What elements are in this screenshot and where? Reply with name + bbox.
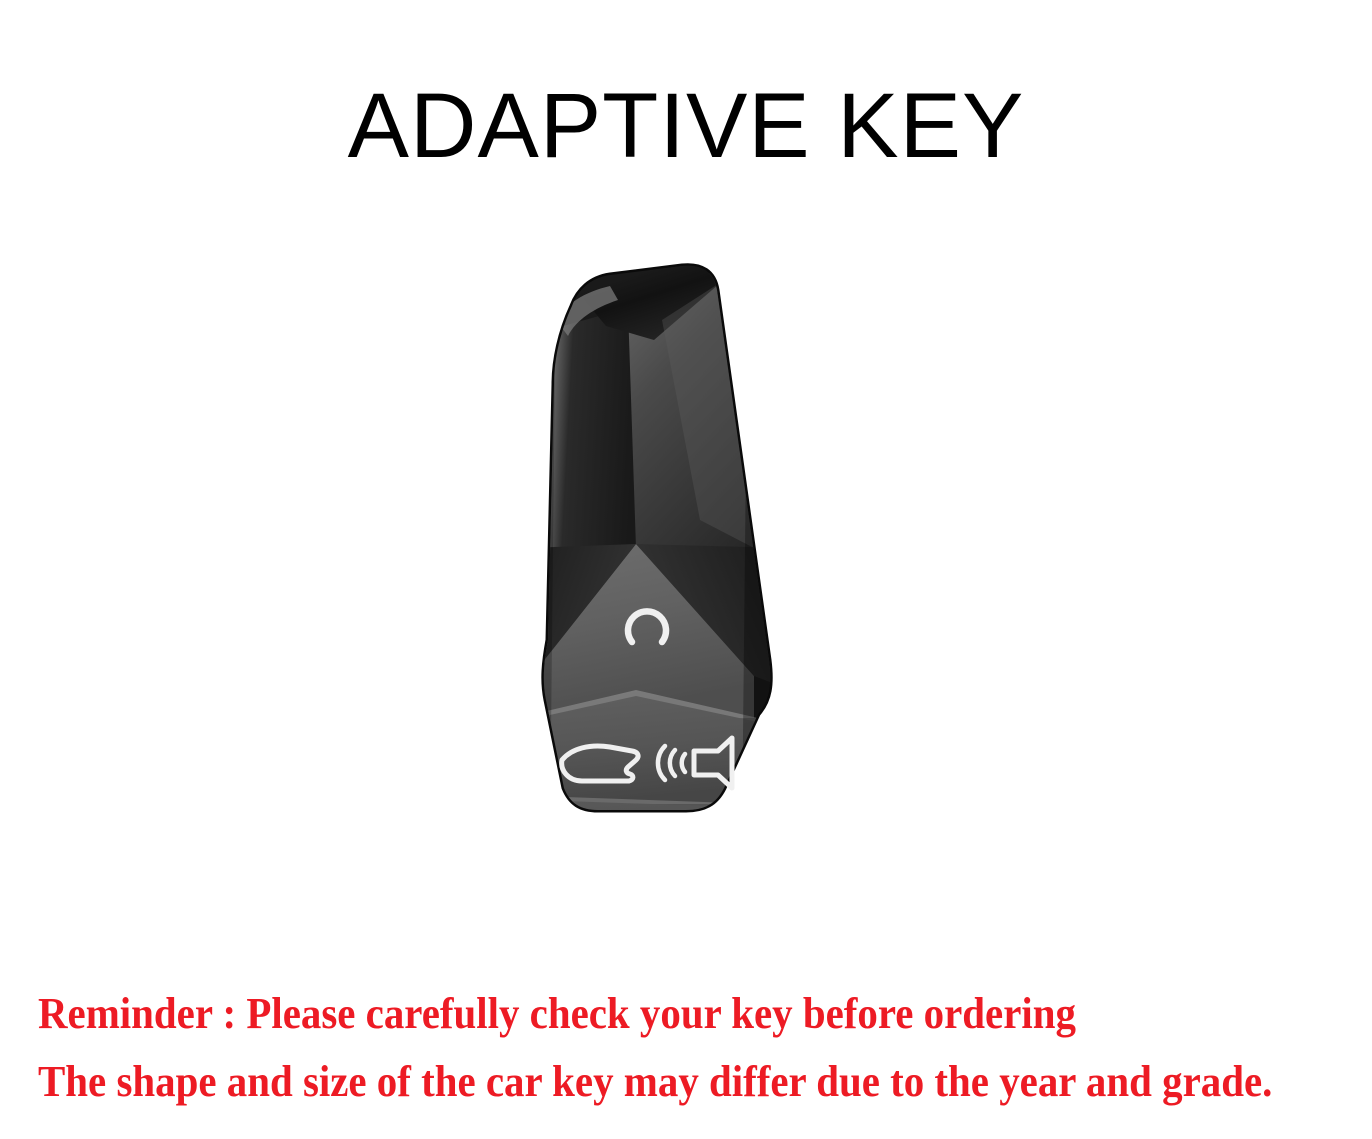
key-fob-image (486, 248, 806, 828)
reminder-line-1: Reminder : Please carefully check your k… (38, 980, 1256, 1048)
fob-edge-shade-left (526, 268, 556, 828)
fob-edge-shade (742, 268, 786, 828)
product-image-canvas: ADAPTIVE KEY (0, 0, 1372, 1139)
reminder-line-2: The shape and size of the car key may di… (38, 1048, 1256, 1116)
page-title: ADAPTIVE KEY (0, 78, 1372, 174)
reminder-block: Reminder : Please carefully check your k… (38, 980, 1348, 1116)
key-fob-illustration (486, 248, 806, 828)
